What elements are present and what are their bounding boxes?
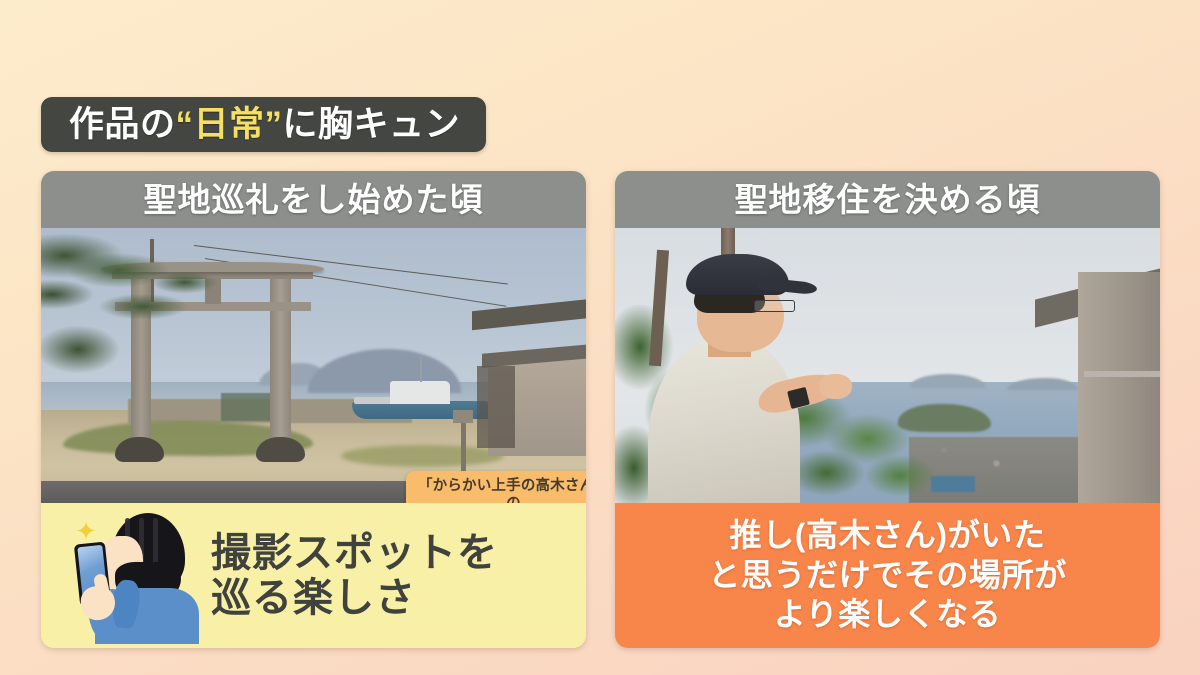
hand-icon	[819, 374, 852, 399]
boat-cabin-icon	[390, 381, 450, 404]
panel-right-footer: 推し(高木さん)がいた と思うだけでその場所が より楽しくなる	[615, 503, 1160, 648]
pine-tree-lower-icon	[41, 311, 150, 407]
handrail-icon	[1084, 371, 1160, 377]
stone-pillar-icon	[1078, 272, 1160, 503]
panel-right-footer-line-1: 推し(高木さん)がいた	[708, 516, 1067, 556]
panel-left: 聖地巡礼をし始めた頃	[41, 171, 586, 648]
building-shadow	[477, 366, 515, 449]
panel-left-footer-text: 撮影スポットを 巡る楽しさ	[211, 531, 498, 621]
panel-left-header-text: 聖地巡礼をし始めた頃	[144, 183, 484, 216]
boat-mast-icon	[420, 357, 423, 382]
headline-highlight: “日常”	[176, 105, 283, 144]
signpost-icon	[461, 418, 466, 476]
person-taking-photo-illustration: ✦	[55, 510, 207, 642]
panel-left-photo: 「からかい上手の高木さん」の “聖地”	[41, 228, 586, 503]
torii-base-left-icon	[115, 437, 164, 462]
panel-right-footer-line-2: と思うだけでその場所が	[708, 556, 1067, 596]
headline-part1: 作品の	[69, 105, 176, 144]
panel-left-footer-line-1: 撮影スポットを	[211, 531, 498, 576]
panel-right: 聖地移住を決める頃 “聖地”から見える景色 「からかい上手の高木さん」が好きすぎ…	[615, 171, 1160, 648]
torii-pillar-right-icon	[270, 269, 291, 451]
panel-right-footer-line-3: より楽しくなる	[708, 595, 1067, 635]
headline-part2: に胸キュン	[283, 105, 461, 144]
panel-left-footer: ✦ 撮影スポットを 巡る楽しさ	[41, 503, 586, 648]
panel-left-badge-sub: 「からかい上手の高木さん」の	[416, 477, 586, 503]
panel-left-footer-line-2: 巡る楽しさ	[211, 576, 498, 621]
signpost-plate-icon	[453, 410, 473, 424]
panel-right-footer-text: 推し(高木さん)がいた と思うだけでその場所が より楽しくなる	[708, 516, 1067, 635]
headline-banner: 作品の“日常”に胸キュン	[41, 97, 486, 152]
panel-right-photo: “聖地”から見える景色 「からかい上手の高木さん」が好きすぎて 小豆島に移住 熊…	[615, 228, 1160, 503]
panel-left-badge: 「からかい上手の高木さん」の “聖地”	[406, 471, 586, 503]
glasses-icon	[754, 300, 795, 312]
panel-right-header-text: 聖地移住を決める頃	[735, 183, 1041, 216]
sparkle-icon: ✦	[73, 518, 99, 544]
headline-text: 作品の“日常”に胸キュン	[69, 107, 460, 142]
panel-right-header: 聖地移住を決める頃	[615, 171, 1160, 228]
panel-left-header: 聖地巡礼をし始めた頃	[41, 171, 586, 228]
